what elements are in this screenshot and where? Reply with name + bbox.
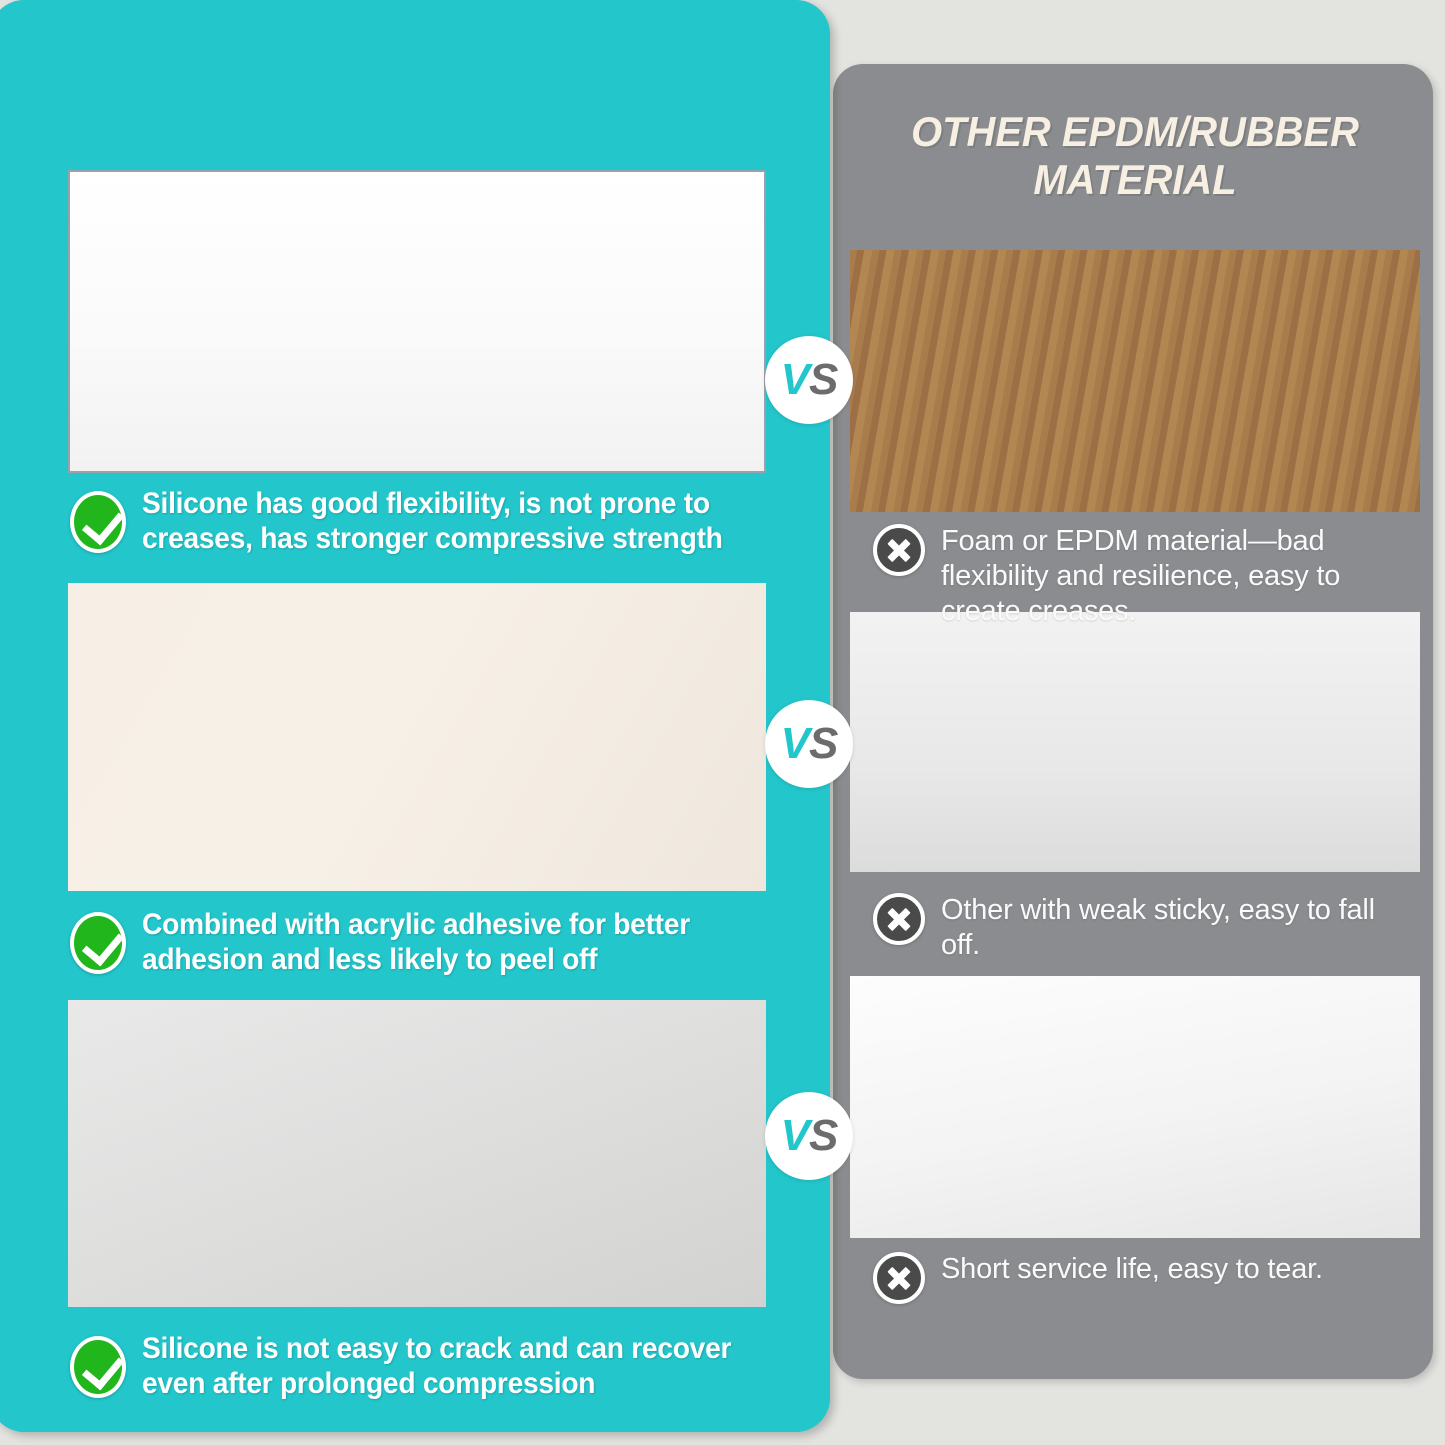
- vs-badge-3: VS: [765, 1092, 853, 1180]
- right-caption-3: Short service life, easy to tear.: [873, 1252, 1403, 1304]
- vs-badge-1-v: V: [781, 358, 809, 402]
- vs-badge-1-s: S: [809, 358, 837, 402]
- vs-badge-2-s: S: [809, 722, 837, 766]
- right-photo-weak-sticky-foam: [850, 612, 1420, 872]
- right-caption-3-text: Short service life, easy to tear.: [941, 1252, 1323, 1287]
- vs-badge-3-v: V: [781, 1114, 809, 1158]
- vs-badge-3-s: S: [809, 1114, 837, 1158]
- infographic-canvas: OUR SILICONE MATERIAL: [0, 0, 1445, 1445]
- right-caption-2-text: Other with weak sticky, easy to fall off…: [941, 893, 1403, 963]
- right-caption-2: Other with weak sticky, easy to fall off…: [873, 893, 1403, 963]
- vs-badge-2-v: V: [781, 722, 809, 766]
- check-circle-icon: [70, 912, 126, 974]
- left-caption-3-text: Silicone is not easy to crack and can re…: [142, 1332, 761, 1402]
- left-caption-2-text: Combined with acrylic adhesive for bette…: [142, 908, 751, 978]
- left-photo-acrylic-adhesive-peel: [68, 583, 766, 891]
- vs-badge-2: VS: [765, 700, 853, 788]
- check-circle-icon: [70, 1336, 126, 1398]
- x-circle-icon: [873, 893, 925, 945]
- x-circle-icon: [873, 524, 925, 576]
- right-caption-1-text: Foam or EPDM material—bad flexibility an…: [941, 524, 1403, 628]
- left-caption-1-text: Silicone has good flexibility, is not pr…: [142, 487, 751, 557]
- check-circle-icon: [70, 491, 126, 553]
- left-caption-2: Combined with acrylic adhesive for bette…: [70, 908, 790, 978]
- x-circle-icon: [873, 1252, 925, 1304]
- right-caption-1: Foam or EPDM material—bad flexibility an…: [873, 524, 1403, 628]
- left-photo-u-channel-seal: [68, 1000, 766, 1307]
- left-photo-twisted-silicone-strip: [68, 170, 766, 473]
- right-panel-title: OTHER EPDM/RUBBER MATERIAL: [860, 108, 1411, 204]
- left-caption-3: Silicone is not easy to crack and can re…: [70, 1332, 800, 1402]
- left-caption-1: Silicone has good flexibility, is not pr…: [70, 487, 790, 557]
- vs-badge-1: VS: [765, 336, 853, 424]
- right-photo-torn-foam-profile: [850, 976, 1420, 1238]
- right-photo-creased-blue-strip: [850, 250, 1420, 512]
